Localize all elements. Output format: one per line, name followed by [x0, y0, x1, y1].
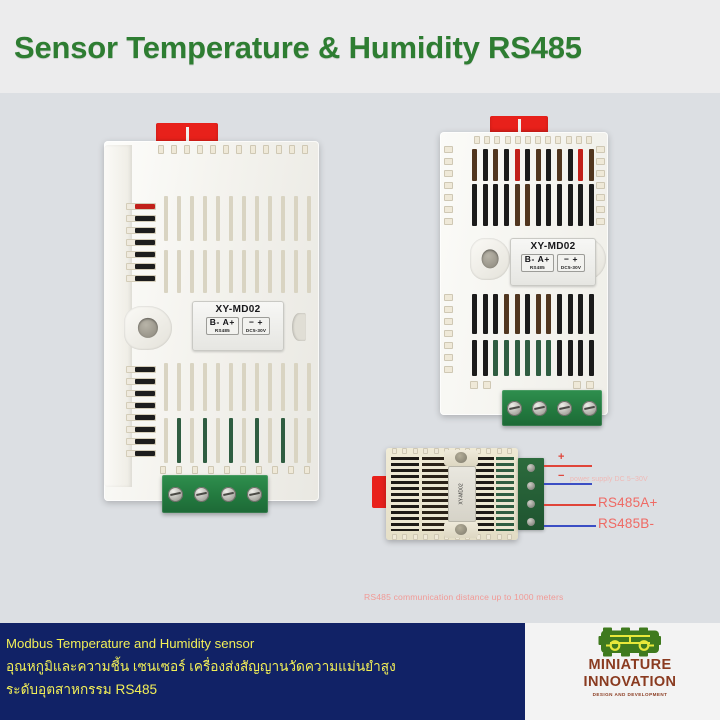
footer-line-1: Modbus Temperature and Humidity sensor: [6, 632, 525, 655]
pcb-band-upper-2: [472, 184, 594, 226]
side-slots-lower: [126, 366, 156, 466]
rs485-a-label: RS485A+: [598, 495, 658, 510]
brand-logo: MINIATURE INNOVATION DESIGN AND DEVELOPM…: [540, 623, 720, 720]
edge-pads-left: [444, 146, 453, 236]
mounting-hole-top: [455, 452, 467, 463]
label-box-rs485: B- A+ RS485: [206, 317, 239, 335]
pcb-band-upper-1: [472, 149, 594, 181]
terminal-hole: [527, 518, 535, 526]
label-power-pins: − +: [564, 255, 578, 265]
screw-terminal-block: [502, 390, 602, 426]
terminal-hole: [527, 500, 535, 508]
terminal-screw: [247, 487, 262, 502]
vent-grid-upper-1: [164, 196, 311, 241]
label-model: XY-MD02: [459, 483, 465, 504]
footer-bar: Modbus Temperature and Humidity sensor อ…: [0, 623, 720, 720]
device-front-large: XY-MD02 B- A+ RS485 − + DC5-30V: [104, 123, 319, 501]
circuit-board-icon: [598, 627, 662, 657]
wire-rs485-a: [544, 504, 596, 506]
plus-sign-label: +: [558, 451, 564, 463]
label-power-caption: DC5-30V: [246, 328, 266, 333]
page-title: Sensor Temperature & Humidity RS485: [14, 30, 582, 66]
label-box-power: − + DC5-30V: [557, 254, 585, 272]
label-model: XY-MD02: [216, 304, 261, 315]
label-rs485-caption: RS485: [215, 328, 230, 333]
label-box-power: − + DC5-30V: [242, 317, 270, 335]
wire-power-plus: [544, 465, 592, 467]
side-slots-upper: [126, 203, 156, 293]
terminal-hole: [527, 482, 535, 490]
footer-line-2: อุณหกูมิและความชี้น เซนเซอร์ เครื่องส่งส…: [6, 655, 525, 678]
din-clip-red: [156, 123, 218, 143]
pin-comb-top: [474, 136, 592, 144]
din-clip-red: [490, 116, 548, 133]
brand-name-line2: INNOVATION: [584, 674, 677, 691]
distance-note: RS485 communication distance up to 1000 …: [364, 592, 563, 602]
brand-tagline: DESIGN AND DEVELOPMENT: [593, 692, 668, 697]
brand-name-line1: MINIATURE: [588, 657, 671, 674]
mounting-hole-bottom: [455, 524, 467, 535]
power-supply-label: power supply DC 5~30V: [570, 476, 648, 483]
label-rs485-pins: B- A+: [210, 318, 235, 328]
terminal-hole: [527, 464, 535, 472]
edge-pads-left-lower: [444, 294, 453, 384]
label-plate: XY-MD02 B- A+ RS485 − + DC5-30V: [510, 238, 596, 286]
pin-comb-top: [158, 145, 308, 154]
terminal-screw: [532, 401, 547, 416]
screw-terminal-block: [162, 475, 268, 513]
terminal-screw: [582, 401, 597, 416]
mounting-hole: [138, 318, 158, 338]
label-terminal-boxes: B- A+ RS485 − + DC5-30V: [521, 254, 585, 272]
label-plate: XY-MD02 B- A+ RS485 − + DC5-30V: [192, 301, 284, 351]
rs485-b-label: RS485B-: [598, 516, 654, 531]
footer-description-banner: Modbus Temperature and Humidity sensor อ…: [0, 623, 525, 720]
label-power-caption: DC5-30V: [561, 265, 581, 270]
corner-pads-bottom: [470, 381, 594, 389]
pcb-band-lower-2: [472, 340, 594, 376]
label-plate: XY-MD02: [448, 466, 476, 522]
mounting-ear-left: [470, 238, 510, 280]
device-wired-beige: XY-MD02: [372, 438, 572, 548]
edge-pads-right: [596, 146, 605, 236]
label-model: XY-MD02: [531, 241, 576, 252]
label-power-pins: − +: [249, 318, 263, 328]
vent-grid-upper-2: [164, 250, 311, 293]
mounting-notch-right: [292, 313, 306, 341]
vent-group-right: [476, 457, 494, 531]
mounting-ear-left: [124, 306, 172, 350]
wire-rs485-b: [544, 525, 596, 527]
device-back-pcb: XY-MD02 B- A+ RS485 − + DC5-30V: [440, 116, 608, 431]
minus-sign-label: −: [558, 470, 564, 482]
terminal-screw: [557, 401, 572, 416]
terminal-screw: [221, 487, 236, 502]
terminal-screw: [507, 401, 522, 416]
vent-group-right-2: [496, 457, 514, 531]
label-rs485-caption: RS485: [530, 265, 545, 270]
vent-grid-lower-2: [164, 418, 311, 463]
terminal-pcb-block: [518, 458, 544, 530]
wire-annotations: + − power supply DC 5~30V RS485A+ RS485B…: [544, 451, 720, 561]
label-box-rs485: B- A+ RS485: [521, 254, 554, 272]
footer-line-3: ระดับอุตสาหกรรม RS485: [6, 678, 525, 701]
pin-comb-bottom: [160, 466, 310, 474]
label-terminal-boxes: B- A+ RS485 − + DC5-30V: [206, 317, 270, 335]
label-rs485-pins: B- A+: [525, 255, 550, 265]
vent-group-left-2: [422, 457, 450, 531]
terminal-screw: [194, 487, 209, 502]
terminal-screw: [168, 487, 183, 502]
mounting-hole: [482, 249, 499, 268]
product-image-stage: XY-MD02 B- A+ RS485 − + DC5-30V: [0, 93, 720, 623]
wire-power-minus: [544, 483, 592, 485]
header-bar: Sensor Temperature & Humidity RS485: [0, 0, 720, 93]
vent-group-left: [391, 457, 419, 531]
pcb-band-lower-1: [472, 294, 594, 334]
vent-grid-lower-1: [164, 363, 311, 411]
